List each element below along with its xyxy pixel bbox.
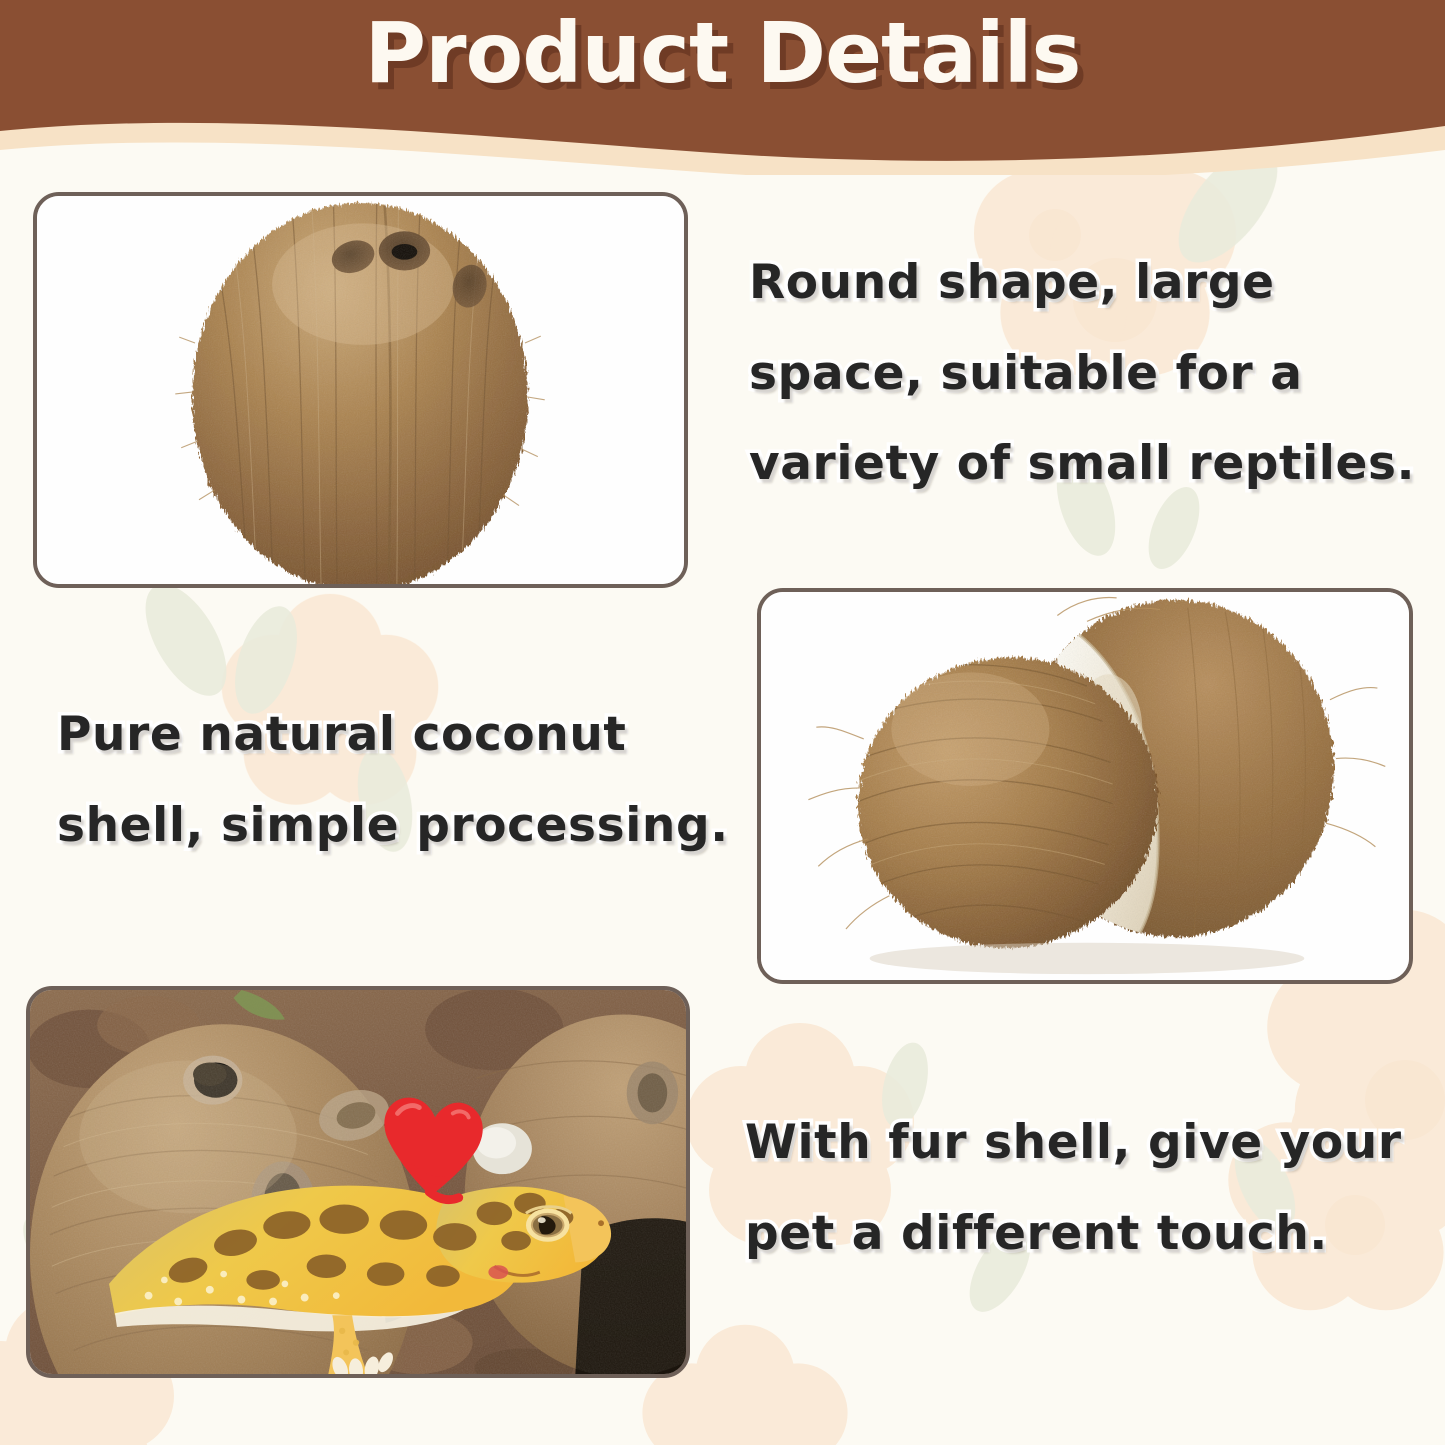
caption-fur-shell: With fur shell, give your pet a differen…: [745, 1098, 1435, 1279]
coconut-shell-dome-photo: [33, 192, 688, 588]
caption-round-shape: Round shape, large space, suitable for a…: [749, 238, 1439, 510]
caption-pure-natural: Pure natural coconut shell, simple proce…: [57, 690, 747, 871]
leopard-gecko-photo: [26, 986, 690, 1378]
page-title: Product Details: [0, 8, 1445, 99]
product-details-infographic: Product Details: [0, 0, 1445, 1445]
coconut-halves-photo: [757, 588, 1413, 984]
